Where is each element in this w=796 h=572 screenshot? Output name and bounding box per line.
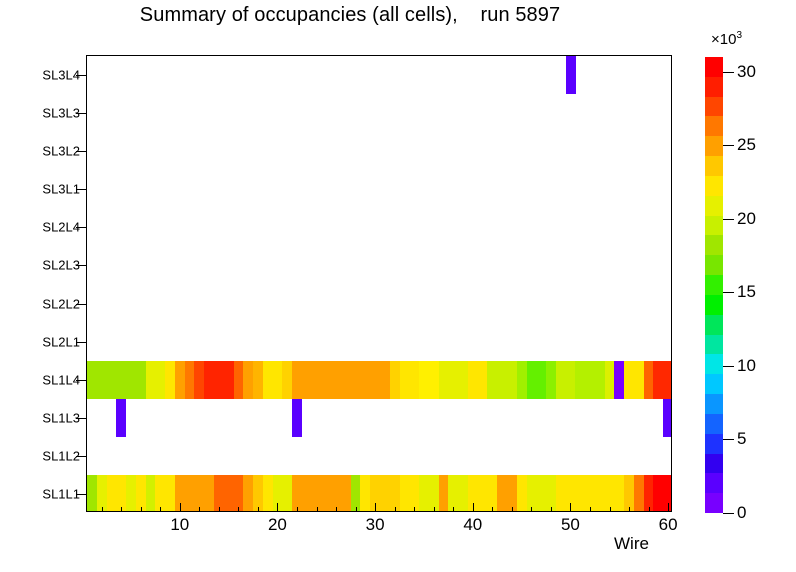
x-axis-minor-tick: [297, 507, 298, 512]
heatmap-cell: [400, 361, 420, 399]
palette-tick: [723, 366, 734, 367]
heatmap-cell: [263, 361, 273, 399]
x-axis-major-tick: [668, 503, 669, 512]
y-axis-tick-label: SL1L1: [42, 486, 80, 501]
y-axis-tick-label: SL1L4: [42, 372, 80, 387]
heatmap-cell: [448, 361, 468, 399]
heatmap-cell: [605, 361, 615, 399]
heatmap-cell: [351, 475, 361, 511]
y-axis-tick-label: SL3L1: [42, 182, 80, 197]
y-axis-tick-label: SL3L3: [42, 106, 80, 121]
palette-ticks: 051015202530: [705, 57, 723, 513]
heatmap-cell: [360, 475, 370, 511]
x-axis-minor-tick: [512, 507, 513, 512]
x-axis-minor-tick: [121, 507, 122, 512]
x-axis-minor-tick: [356, 507, 357, 512]
palette-tick-label: 20: [737, 209, 756, 229]
heatmap-cell: [282, 475, 292, 511]
x-axis-minor-tick: [336, 507, 337, 512]
x-axis-minor-tick: [317, 507, 318, 512]
palette-tick-label: 30: [737, 62, 756, 82]
heatmap-cell: [380, 361, 390, 399]
palette-tick: [723, 292, 734, 293]
y-axis-tick-label: SL1L2: [42, 448, 80, 463]
x-axis-tick-label: 60: [659, 515, 678, 535]
palette-tick-label: 15: [737, 282, 756, 302]
heatmap-cell: [527, 361, 547, 399]
heatmap-cell: [614, 361, 624, 399]
heatmap-cell: [263, 475, 273, 511]
x-axis-minor-tick: [434, 507, 435, 512]
heatmap-cell: [234, 361, 244, 399]
heatmap-cell: [624, 475, 634, 511]
x-axis-minor-tick: [590, 507, 591, 512]
heatmap-cell: [644, 475, 654, 511]
heatmap-cell: [136, 475, 146, 511]
heatmap-cell: [204, 475, 214, 511]
heatmap-cell: [194, 361, 204, 399]
x-axis-minor-tick: [649, 507, 650, 512]
heatmap-cell: [653, 361, 671, 399]
heatmap-cell: [87, 475, 97, 511]
heatmap-cell: [419, 361, 439, 399]
palette-tick: [723, 145, 734, 146]
x-axis-minor-tick: [258, 507, 259, 512]
x-axis-tick-label: 40: [463, 515, 482, 535]
palette-tick: [723, 72, 734, 73]
x-axis-minor-tick: [414, 507, 415, 512]
x-axis-major-tick: [277, 503, 278, 512]
heatmap-cell: [644, 361, 654, 399]
heatmap-cell: [107, 475, 127, 511]
heatmap-cell: [546, 361, 556, 399]
palette-tick: [723, 219, 734, 220]
heatmap-cell: [517, 361, 527, 399]
heatmap-cell: [292, 361, 312, 399]
heatmap-cell: [458, 475, 468, 511]
plot-title: Summary of occupancies (all cells), run …: [0, 4, 700, 27]
root-canvas: Summary of occupancies (all cells), run …: [0, 0, 796, 572]
x-axis-major-tick: [375, 503, 376, 512]
palette-tick: [723, 439, 734, 440]
heatmap-cell: [97, 475, 107, 511]
heatmap-cell: [185, 361, 195, 399]
x-axis-tick-label: 50: [561, 515, 580, 535]
heatmap-cell: [126, 475, 136, 511]
heatmap-cell: [175, 361, 185, 399]
heatmap-cell: [165, 361, 175, 399]
heatmap-cell: [390, 361, 400, 399]
x-axis-tick-label: 20: [268, 515, 287, 535]
x-axis-minor-tick: [102, 507, 103, 512]
palette-tick-label: 0: [737, 503, 746, 523]
x-axis-minor-tick: [238, 507, 239, 512]
x-axis-minor-tick: [629, 507, 630, 512]
heatmap-cell: [517, 475, 527, 511]
heatmap-cell: [556, 361, 576, 399]
heatmap-cell: [282, 361, 292, 399]
heatmap-cell: [87, 361, 97, 399]
y-axis-tick-label: SL3L2: [42, 144, 80, 159]
palette-exponent-power: 3: [736, 30, 742, 41]
x-axis-minor-tick: [395, 507, 396, 512]
heatmap-cell: [146, 361, 166, 399]
heatmap-cell: [468, 361, 488, 399]
x-axis-minor-tick: [199, 507, 200, 512]
x-axis-major-tick: [473, 503, 474, 512]
heatmap-cell: [204, 361, 234, 399]
x-axis-title: Wire: [614, 534, 649, 554]
heatmap-cell: [439, 475, 449, 511]
heatmap-cell: [243, 361, 253, 399]
x-axis-major-tick: [180, 503, 181, 512]
heatmap-cell: [419, 475, 439, 511]
y-axis-tick-label: SL2L1: [42, 334, 80, 349]
heatmap-cell: [214, 475, 244, 511]
heatmap-cell: [439, 361, 449, 399]
x-axis-minor-tick: [610, 507, 611, 512]
heatmap-cell: [97, 361, 146, 399]
x-axis-minor-tick: [160, 507, 161, 512]
heatmap-cell: [634, 475, 644, 511]
heatmap-cell: [400, 475, 420, 511]
heatmap-cell: [253, 475, 263, 511]
heatmap-cell: [155, 475, 175, 511]
heatmap-cell: [556, 475, 625, 511]
heatmap-cell: [253, 361, 263, 399]
y-axis-tick-label: SL1L3: [42, 410, 80, 425]
y-axis-tick-label: SL3L4: [42, 68, 80, 83]
heatmap-cell: [663, 399, 671, 437]
heatmap-cell: [624, 361, 644, 399]
x-axis-tick-label: 10: [170, 515, 189, 535]
x-axis-minor-tick: [141, 507, 142, 512]
x-axis-minor-tick: [453, 507, 454, 512]
x-axis-minor-tick: [219, 507, 220, 512]
heatmap-cell: [497, 475, 517, 511]
heatmap-cell: [312, 361, 381, 399]
heatmap-cell: [448, 475, 458, 511]
plot-frame: SL3L4SL3L3SL3L2SL3L1SL2L4SL2L3SL2L2SL2L1…: [86, 55, 672, 512]
heatmap-cell: [575, 361, 605, 399]
palette-tick-label: 10: [737, 356, 756, 376]
y-axis-tick-label: SL2L2: [42, 296, 80, 311]
heatmap-cells: [87, 56, 671, 511]
palette-tick-label: 25: [737, 135, 756, 155]
heatmap-cell: [116, 399, 126, 437]
palette-tick: [723, 513, 734, 514]
y-axis-tick-label: SL2L3: [42, 258, 80, 273]
heatmap-cell: [146, 475, 156, 511]
heatmap-cell: [243, 475, 253, 511]
x-axis-minor-tick: [531, 507, 532, 512]
heatmap-cell: [292, 475, 341, 511]
x-axis-tick-label: 30: [366, 515, 385, 535]
heatmap-cell: [341, 475, 351, 511]
palette-exponent-label: ×103: [711, 30, 742, 48]
heatmap-cell: [273, 361, 283, 399]
x-axis-minor-tick: [551, 507, 552, 512]
palette-tick-label: 5: [737, 429, 746, 449]
x-axis-major-tick: [570, 503, 571, 512]
heatmap-cell: [292, 399, 302, 437]
x-axis-minor-tick: [492, 507, 493, 512]
heatmap-cell: [566, 56, 576, 94]
y-axis-tick-label: SL2L4: [42, 220, 80, 235]
heatmap-cell: [487, 361, 517, 399]
heatmap-cell: [527, 475, 557, 511]
